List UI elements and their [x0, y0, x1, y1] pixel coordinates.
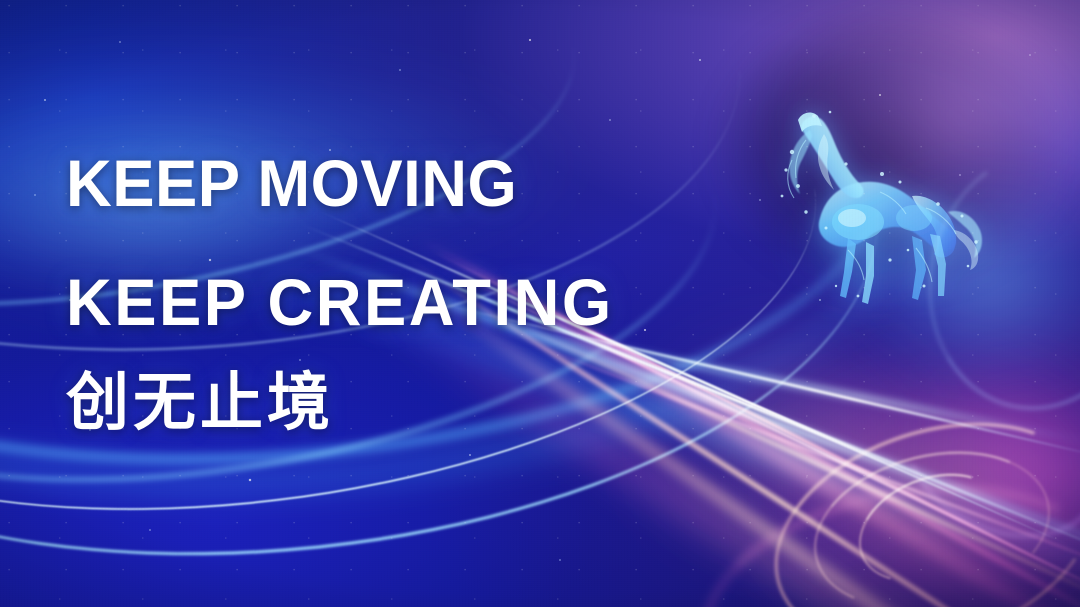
headline-line-2: KEEP CREATING: [66, 269, 738, 335]
horse-icon: [762, 100, 997, 325]
headline-block: KEEP MOVING KEEP CREATING 创无止境: [66, 150, 766, 434]
poster-canvas: KEEP MOVING KEEP CREATING 创无止境: [0, 0, 1080, 607]
subline-chinese: 创无止境: [66, 371, 766, 434]
headline-line-1: KEEP MOVING: [66, 150, 738, 216]
